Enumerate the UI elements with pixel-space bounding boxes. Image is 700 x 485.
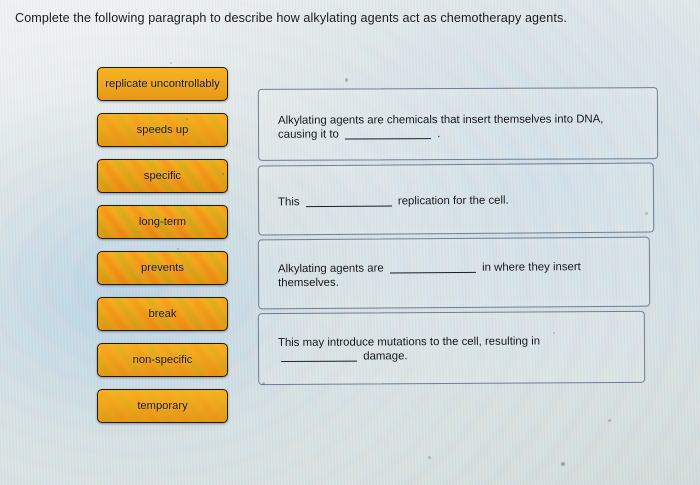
option-tile-label: long-term — [139, 216, 186, 228]
option-tile-label: specific — [144, 170, 181, 182]
answer-dropbox[interactable]: This may introduce mutations to the cell… — [258, 311, 645, 385]
answer-blank[interactable] — [390, 272, 476, 274]
answer-dropbox[interactable]: This replication for the cell. — [258, 162, 655, 235]
option-tile[interactable]: replicate uncontrollably — [97, 67, 228, 101]
option-tile[interactable]: break — [97, 297, 228, 331]
sentence-before: Alkylating agents are — [278, 262, 384, 275]
option-tiles-column: replicate uncontrollably speeds up speci… — [97, 67, 228, 435]
answer-dropbox[interactable]: Alkylating agents are in where they inse… — [258, 237, 650, 310]
answer-blank[interactable] — [281, 361, 357, 362]
option-tile-label: temporary — [137, 400, 187, 412]
option-tile-label: replicate uncontrollably — [105, 78, 219, 90]
answer-dropbox[interactable]: Alkylating agents are chemicals that ins… — [258, 87, 658, 161]
option-tile-label: non-specific — [133, 354, 193, 366]
sentence-before: Alkylating agents are chemicals that ins… — [278, 113, 603, 140]
option-tile[interactable]: specific — [97, 159, 228, 193]
option-tile[interactable]: non-specific — [97, 343, 228, 377]
option-tile-label: speeds up — [137, 124, 189, 136]
dropbox-sentence: This may introduce mutations to the cell… — [278, 334, 632, 364]
option-tile[interactable]: temporary — [97, 389, 228, 423]
option-tile[interactable]: prevents — [97, 251, 228, 285]
answer-blank[interactable] — [306, 206, 392, 208]
option-tile-label: prevents — [141, 262, 184, 274]
dropbox-sentence: This replication for the cell. — [278, 193, 641, 210]
sentence-before: This — [278, 196, 300, 208]
dropbox-sentence: Alkylating agents are in where they inse… — [278, 260, 637, 291]
option-tile-label: break — [149, 308, 177, 320]
page-title: Complete the following paragraph to desc… — [15, 11, 655, 25]
quiz-screen: Complete the following paragraph to desc… — [0, 0, 700, 485]
sentence-after: . — [437, 128, 440, 140]
option-tile[interactable]: speeds up — [97, 113, 228, 147]
sentence-after: damage. — [363, 350, 407, 362]
sentence-after: replication for the cell. — [398, 195, 509, 208]
dropbox-sentence: Alkylating agents are chemicals that ins… — [278, 112, 645, 142]
option-tile[interactable]: long-term — [97, 205, 228, 239]
sentence-before: This may introduce mutations to the cell… — [278, 335, 540, 349]
answer-blank[interactable] — [345, 138, 431, 139]
